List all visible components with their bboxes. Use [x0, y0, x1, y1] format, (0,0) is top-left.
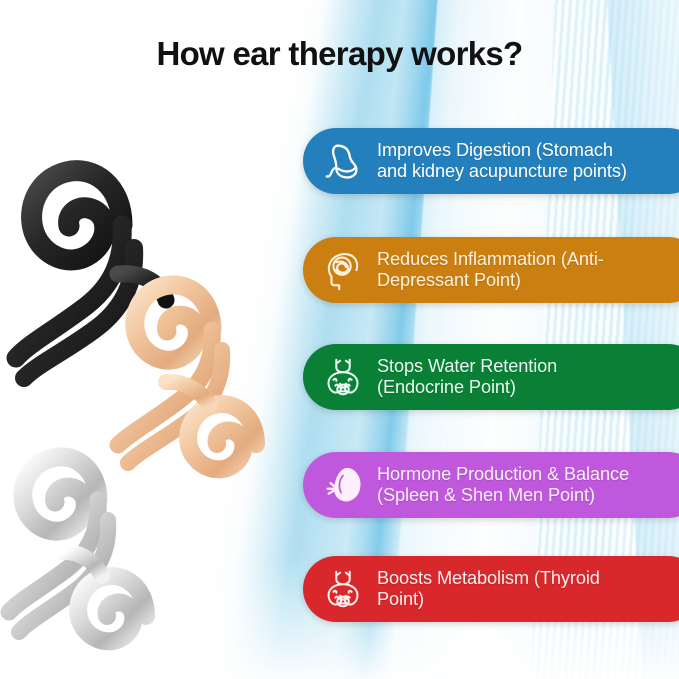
benefit-label: Boosts Metabolism (Thyroid Point): [377, 568, 610, 611]
benefit-label: Reduces Inflammation (Anti- Depressant P…: [377, 249, 614, 292]
thyroid-icon: [317, 563, 369, 615]
head-brain-icon: [317, 244, 369, 296]
benefits-list: Improves Digestion (Stomach and kidney a…: [0, 0, 679, 679]
benefit-label: Improves Digestion (Stomach and kidney a…: [377, 140, 637, 183]
benefit-item-improves-digestion[interactable]: Improves Digestion (Stomach and kidney a…: [303, 128, 679, 194]
benefit-label: Stops Water Retention (Endocrine Point): [377, 356, 567, 399]
thyroid-icon: [317, 351, 369, 403]
benefit-item-stops-water-retention[interactable]: Stops Water Retention (Endocrine Point): [303, 344, 679, 410]
benefit-item-hormone-production-balance[interactable]: Hormone Production & Balance (Spleen & S…: [303, 452, 679, 518]
benefit-item-reduces-inflammation[interactable]: Reduces Inflammation (Anti- Depressant P…: [303, 237, 679, 303]
spleen-icon: [317, 459, 369, 511]
stomach-icon: [317, 135, 369, 187]
poster: How ear therapy works?: [0, 0, 679, 679]
benefit-label: Hormone Production & Balance (Spleen & S…: [377, 464, 639, 507]
benefit-item-boosts-metabolism[interactable]: Boosts Metabolism (Thyroid Point): [303, 556, 679, 622]
